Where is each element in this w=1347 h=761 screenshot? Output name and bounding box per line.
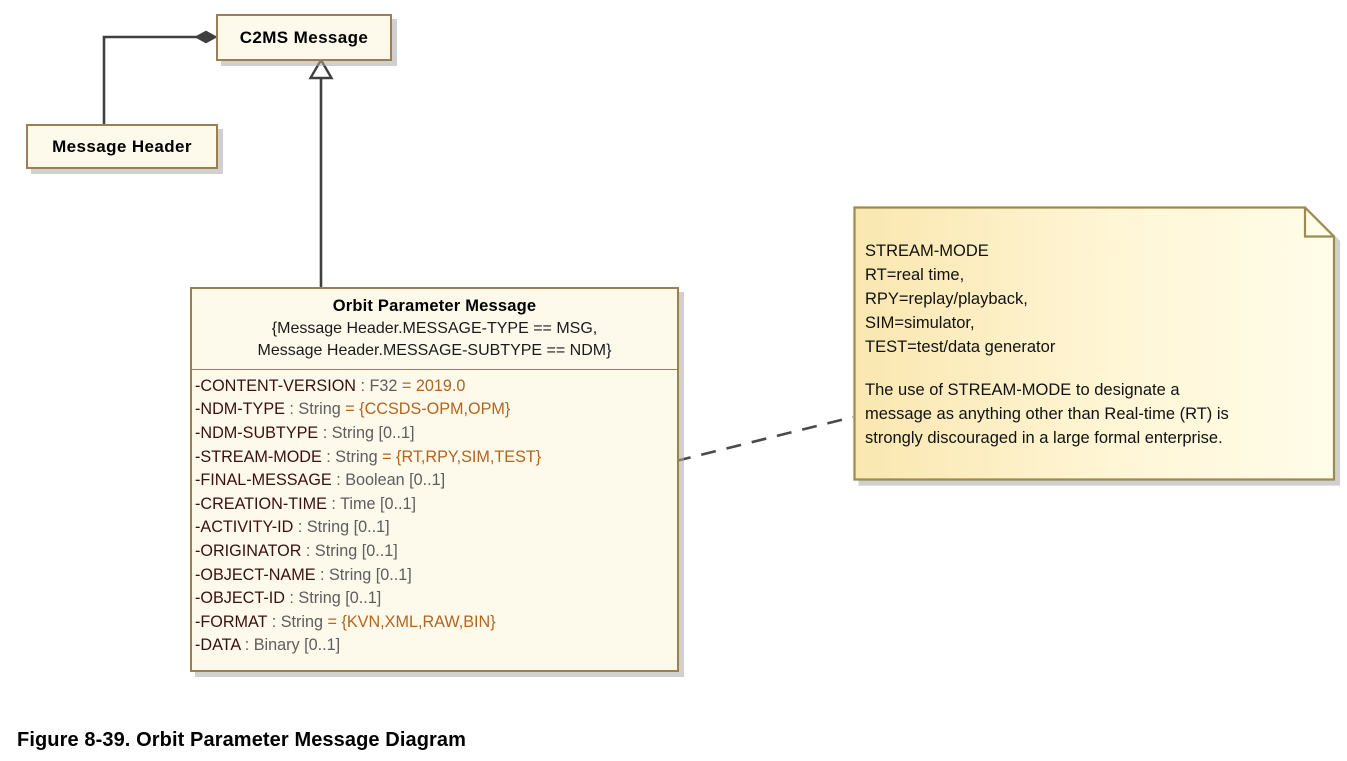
- attribute-type: : String: [322, 448, 378, 466]
- hollow-triangle-marker: [311, 60, 332, 78]
- note-text-content: STREAM-MODERT=real time,RPY=replay/playb…: [865, 239, 1323, 450]
- attribute-multiplicity: [0..1]: [371, 566, 412, 584]
- class-attribute-row: -DATA : Binary [0..1]: [195, 634, 677, 658]
- note-line: SIM=simulator,: [865, 311, 1323, 335]
- class-header-orbit-parameter-message: Orbit Parameter Message {Message Header.…: [192, 289, 677, 370]
- class-attribute-row: -FORMAT : String = {KVN,XML,RAW,BIN}: [195, 611, 677, 635]
- class-attribute-row: -OBJECT-NAME : String [0..1]: [195, 564, 677, 588]
- attribute-equals: =: [341, 400, 359, 418]
- attribute-name: -NDM-SUBTYPE: [195, 424, 318, 442]
- attribute-type: : String: [285, 400, 341, 418]
- attribute-multiplicity: [0..1]: [300, 636, 341, 654]
- note-stream-mode[interactable]: STREAM-MODERT=real time,RPY=replay/playb…: [853, 206, 1336, 481]
- class-constraint-line: {Message Header.MESSAGE-TYPE == MSG,: [198, 318, 671, 340]
- note-paragraph-line: message as anything other than Real-time…: [865, 402, 1323, 426]
- attribute-default-value: {CCSDS-OPM,OPM}: [359, 400, 510, 418]
- class-attribute-row: -CONTENT-VERSION : F32 = 2019.0: [195, 375, 677, 399]
- attribute-multiplicity: [0..1]: [349, 518, 390, 536]
- attribute-name: -ACTIVITY-ID: [195, 518, 293, 536]
- attribute-name: -STREAM-MODE: [195, 448, 322, 466]
- attribute-default-value: {KVN,XML,RAW,BIN}: [341, 613, 495, 631]
- attribute-name: -DATA: [195, 636, 240, 654]
- attribute-type: : String: [285, 589, 341, 607]
- attribute-name: -OBJECT-ID: [195, 589, 285, 607]
- connector-generalization-orbit-parameter-message: [311, 60, 332, 287]
- attribute-equals: =: [323, 613, 341, 631]
- figure-caption: Figure 8-39. Orbit Parameter Message Dia…: [17, 729, 466, 752]
- class-attribute-row: -CREATION-TIME : Time [0..1]: [195, 493, 677, 517]
- attribute-name: -FORMAT: [195, 613, 267, 631]
- class-attribute-row: -OBJECT-ID : String [0..1]: [195, 587, 677, 611]
- attribute-multiplicity: [0..1]: [375, 495, 416, 513]
- class-attribute-row: -STREAM-MODE : String = {RT,RPY,SIM,TEST…: [195, 446, 677, 470]
- class-box-c2ms-message[interactable]: C2MS Message: [216, 14, 392, 61]
- note-line: STREAM-MODE: [865, 239, 1323, 263]
- attribute-multiplicity: [0..1]: [357, 542, 398, 560]
- attribute-default-value: 2019.0: [416, 377, 466, 395]
- class-box-orbit-parameter-message[interactable]: Orbit Parameter Message {Message Header.…: [190, 287, 679, 672]
- attribute-multiplicity: [0..1]: [341, 589, 382, 607]
- attribute-type: : F32: [356, 377, 397, 395]
- attribute-type: : Binary: [240, 636, 299, 654]
- attribute-equals: =: [397, 377, 415, 395]
- attribute-name: -OBJECT-NAME: [195, 566, 316, 584]
- filled-diamond-marker: [196, 32, 216, 43]
- note-line: TEST=test/data generator: [865, 335, 1323, 359]
- attribute-name: -CONTENT-VERSION: [195, 377, 356, 395]
- note-paragraph-line: strongly discouraged in a large formal e…: [865, 426, 1323, 450]
- class-name-orbit-parameter-message: Orbit Parameter Message: [198, 295, 671, 317]
- attribute-equals: =: [378, 448, 396, 466]
- attribute-default-value: {RT,RPY,SIM,TEST}: [396, 448, 541, 466]
- attribute-multiplicity: [0..1]: [405, 471, 446, 489]
- attribute-type: : Boolean: [332, 471, 405, 489]
- class-box-message-header[interactable]: Message Header: [26, 124, 218, 169]
- class-name-message-header: Message Header: [52, 137, 192, 157]
- attribute-type: : Time: [327, 495, 376, 513]
- attribute-name: -ORIGINATOR: [195, 542, 301, 560]
- attribute-name: -CREATION-TIME: [195, 495, 327, 513]
- class-attribute-row: -NDM-TYPE : String = {CCSDS-OPM,OPM}: [195, 398, 677, 422]
- class-name-c2ms-message: C2MS Message: [240, 28, 369, 48]
- class-attribute-list: -CONTENT-VERSION : F32 = 2019.0-NDM-TYPE…: [192, 370, 677, 670]
- class-attribute-row: -ACTIVITY-ID : String [0..1]: [195, 516, 677, 540]
- class-constraint-line: Message Header.MESSAGE-SUBTYPE == NDM}: [198, 340, 671, 362]
- class-attribute-row: -NDM-SUBTYPE : String [0..1]: [195, 422, 677, 446]
- class-attribute-row: -FINAL-MESSAGE : Boolean [0..1]: [195, 469, 677, 493]
- class-constraint-orbit-parameter-message: {Message Header.MESSAGE-TYPE == MSG,Mess…: [198, 318, 671, 362]
- attribute-multiplicity: [0..1]: [374, 424, 415, 442]
- attribute-type: : String: [318, 424, 374, 442]
- note-line: RT=real time,: [865, 263, 1323, 287]
- attribute-type: : String: [301, 542, 357, 560]
- class-attribute-row: -ORIGINATOR : String [0..1]: [195, 540, 677, 564]
- attribute-name: -FINAL-MESSAGE: [195, 471, 332, 489]
- attribute-type: : String: [267, 613, 323, 631]
- connector-note-anchor: [666, 417, 853, 467]
- note-paragraph-spacer: [865, 359, 1323, 378]
- attribute-type: : String: [293, 518, 349, 536]
- note-paragraph-line: The use of STREAM-MODE to designate a: [865, 378, 1323, 402]
- note-line: RPY=replay/playback,: [865, 287, 1323, 311]
- attribute-type: : String: [316, 566, 372, 584]
- diagram-canvas: C2MS Message Message Header Orbit Parame…: [0, 0, 1347, 761]
- attribute-name: -NDM-TYPE: [195, 400, 285, 418]
